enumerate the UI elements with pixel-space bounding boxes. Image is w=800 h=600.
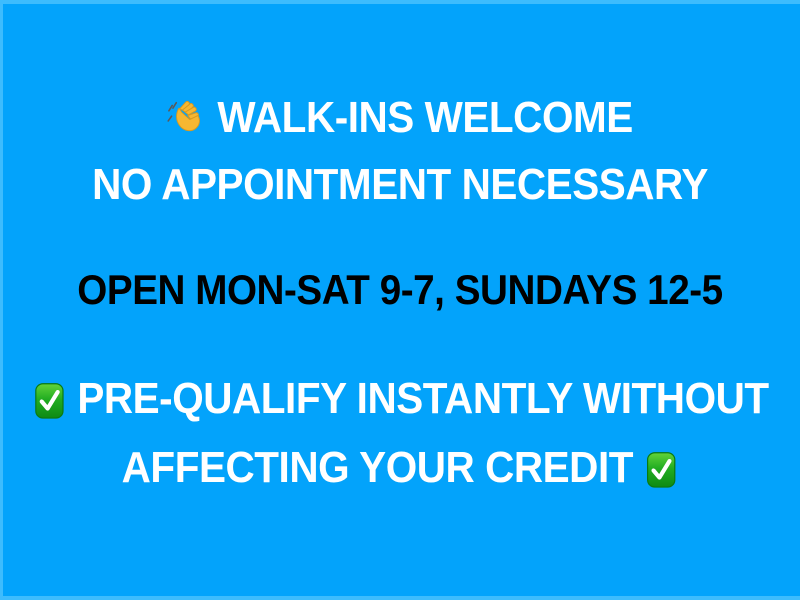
prequalify-text: PRE-QUALIFY INSTANTLY WITHOUT	[77, 374, 768, 423]
store-hours-text: OPEN MON-SAT 9-7, SUNDAYS 12-5	[77, 266, 722, 313]
left-edge-highlight	[0, 0, 3, 600]
store-hours: OPEN MON-SAT 9-7, SUNDAYS 12-5	[32, 269, 768, 311]
headline-walk-ins: WALK-INS WELCOME	[32, 96, 768, 147]
check-mark-button-icon	[30, 382, 68, 428]
headline-no-appointment: NO APPOINTMENT NECESSARY	[32, 163, 768, 207]
bottom-edge-highlight	[0, 596, 800, 600]
promo-sign-banner: WALK-INS WELCOME NO APPOINTMENT NECESSAR…	[0, 0, 800, 600]
credit-line: AFFECTING YOUR CREDIT	[32, 446, 768, 497]
credit-text: AFFECTING YOUR CREDIT	[122, 443, 633, 492]
check-mark-button-icon-trailing	[642, 451, 680, 497]
headline-no-appointment-text: NO APPOINTMENT NECESSARY	[92, 160, 708, 209]
prequalify-line: PRE-QUALIFY INSTANTLY WITHOUT	[32, 377, 768, 428]
waving-hand-icon	[165, 96, 208, 147]
headline-walk-ins-text: WALK-INS WELCOME	[217, 93, 632, 142]
top-edge-highlight	[0, 0, 800, 4]
